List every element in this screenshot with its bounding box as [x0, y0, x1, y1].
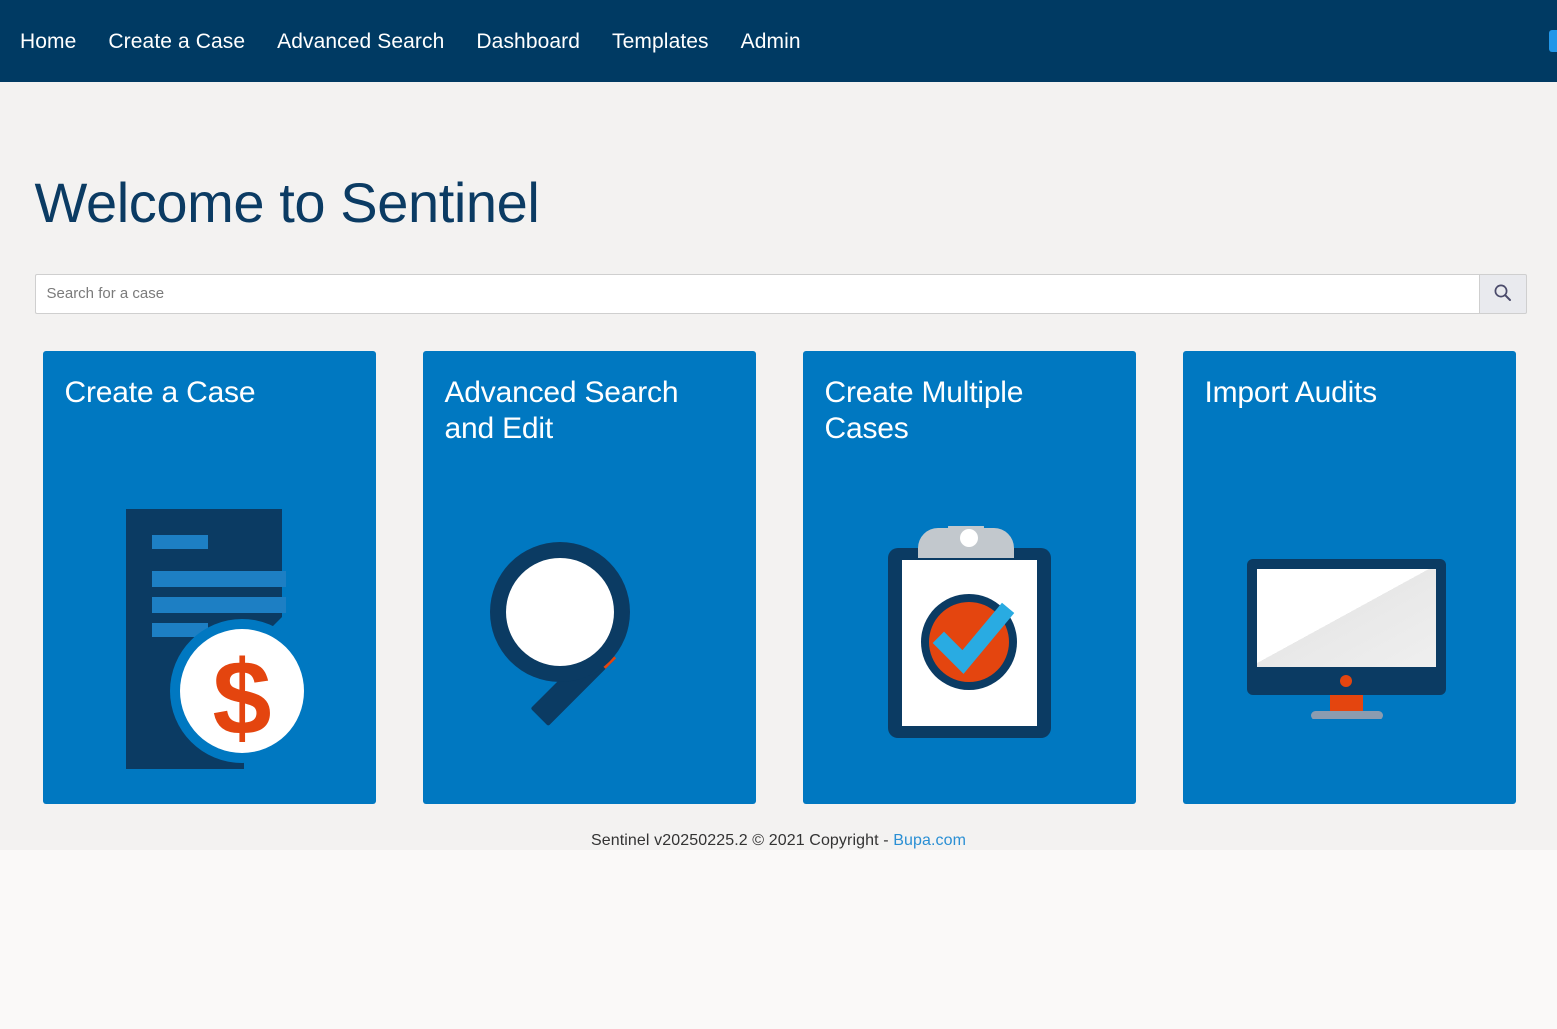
nav-right-region [1549, 30, 1557, 52]
document-dollar-icon: $ [43, 474, 376, 804]
card-import-audits[interactable]: Import Audits [1183, 351, 1516, 804]
nav-item-list: Home Create a Case Advanced Search Dashb… [0, 25, 817, 58]
search-button[interactable] [1479, 274, 1527, 314]
nav-item-create-a-case[interactable]: Create a Case [92, 25, 261, 58]
monitor-icon [1183, 474, 1516, 804]
svg-text:$: $ [213, 639, 272, 757]
page-body: Welcome to Sentinel Create a Case [0, 82, 1557, 850]
card-create-a-case[interactable]: Create a Case [43, 351, 376, 804]
clipboard-check-icon [803, 474, 1136, 804]
search-bar [35, 274, 1527, 314]
card-title: Create Multiple Cases [803, 351, 1136, 448]
card-title: Advanced Search and Edit [423, 351, 756, 448]
card-title: Import Audits [1183, 351, 1516, 412]
user-account-icon[interactable] [1549, 30, 1557, 52]
nav-item-admin[interactable]: Admin [725, 25, 817, 58]
below-fold-area [0, 850, 1557, 1029]
card-grid: Create a Case [43, 351, 1527, 804]
content-container: Welcome to Sentinel Create a Case [31, 82, 1527, 850]
nav-item-dashboard[interactable]: Dashboard [460, 25, 596, 58]
footer-text: Sentinel v20250225.2 © 2021 Copyright - [591, 832, 893, 849]
nav-item-home[interactable]: Home [4, 25, 92, 58]
footer: Sentinel v20250225.2 © 2021 Copyright - … [31, 832, 1527, 850]
card-create-multiple-cases[interactable]: Create Multiple Cases [803, 351, 1136, 804]
card-title: Create a Case [43, 351, 376, 412]
card-advanced-search-and-edit[interactable]: Advanced Search and Edit [423, 351, 756, 804]
magnifier-icon [423, 474, 756, 804]
search-input[interactable] [35, 274, 1479, 314]
search-icon [1493, 283, 1512, 305]
top-navigation-bar: Home Create a Case Advanced Search Dashb… [0, 0, 1557, 82]
nav-item-advanced-search[interactable]: Advanced Search [261, 25, 460, 58]
page-title: Welcome to Sentinel [31, 82, 1527, 234]
footer-link-bupa[interactable]: Bupa.com [893, 832, 966, 849]
nav-item-templates[interactable]: Templates [596, 25, 725, 58]
